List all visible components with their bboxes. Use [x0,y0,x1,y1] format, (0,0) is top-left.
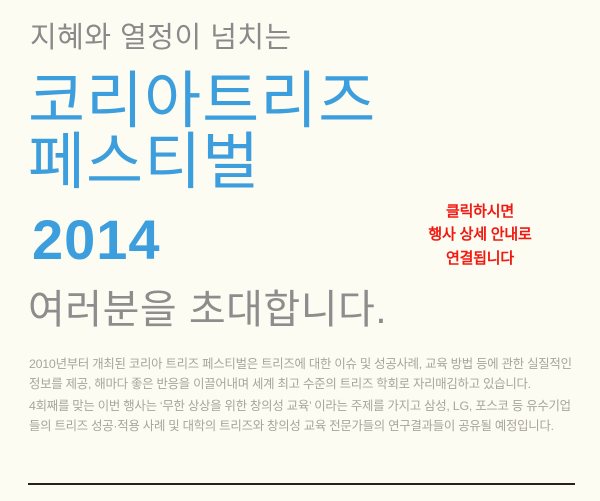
promo-banner[interactable]: 지혜와 열정이 넘치는 코리아트리즈 페스티벌 2014 클릭하시면 행사 상세… [0,0,600,501]
callout-line-3: 연결됩니다 [390,247,570,270]
bottom-divider [28,483,575,485]
invitation-text: 여러분을 초대합니다. [28,288,387,332]
title-line-1: 코리아트리즈 [28,72,376,133]
callout-line-2: 행사 상세 안내로 [390,223,570,246]
body-paragraph-1: 2010년부터 개최된 코리아 트리즈 페스티벌은 트리즈에 대한 이슈 및 성… [29,354,577,394]
title-year: 2014 [32,212,161,268]
body-copy: 2010년부터 개최된 코리아 트리즈 페스티벌은 트리즈에 대한 이슈 및 성… [29,354,577,436]
title-line-2: 페스티벌 [28,133,376,194]
main-title: 코리아트리즈 페스티벌 [28,72,376,194]
kicker-text: 지혜와 열정이 넘치는 [30,22,292,55]
body-paragraph-2: 4회째를 맞는 이번 행사는 ‘무한 상상을 위한 창의성 교육’ 이라는 주제… [29,396,577,436]
callout-line-1: 클릭하시면 [390,200,570,223]
click-callout[interactable]: 클릭하시면 행사 상세 안내로 연결됩니다 [390,200,570,270]
